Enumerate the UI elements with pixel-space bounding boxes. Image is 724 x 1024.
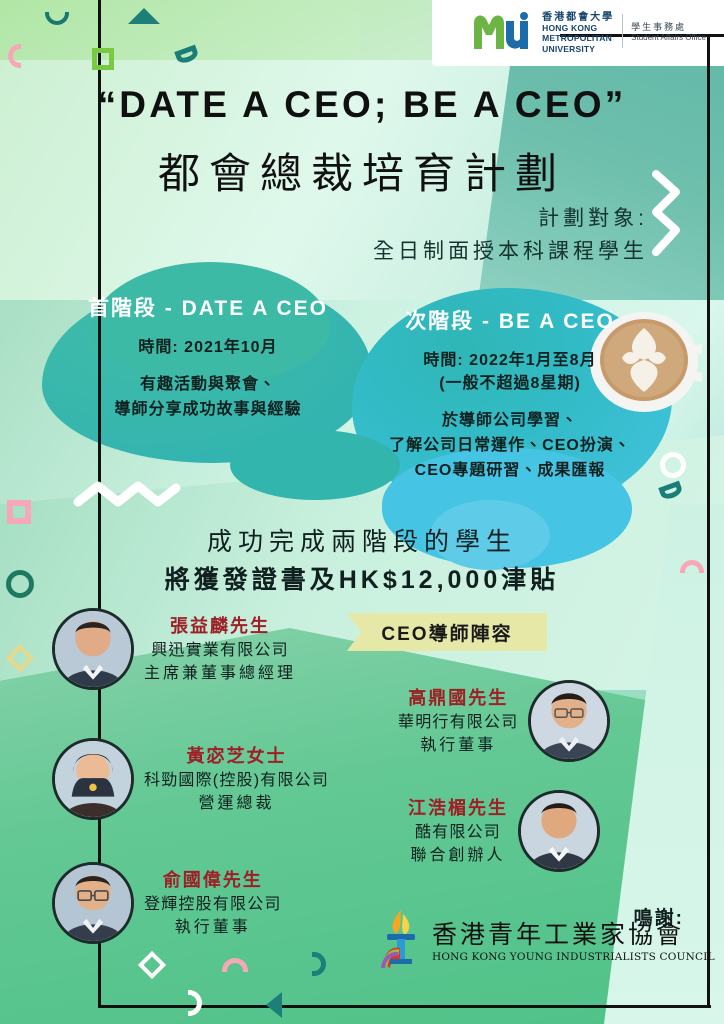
wave-decoration-icon <box>72 478 182 510</box>
page-title-en: “DATE A CEO; BE A CEO” <box>0 84 724 126</box>
torch-icon <box>378 908 424 970</box>
mentor-card: 江浩楣先生 酷有限公司 聯合創辦人 <box>398 790 600 872</box>
sponsor-logo: 香港青年工業家協會 HONG KONG YOUNG INDUSTRIALISTS… <box>378 908 715 970</box>
logo-office-zh: 學生事務處 <box>631 20 706 33</box>
mentor-card: 黃宓芝女士 科勁國際(控股)有限公司 營運總裁 <box>52 738 339 820</box>
logo-office-en: Student Affairs Office <box>631 33 706 42</box>
mu-monogram-icon <box>472 11 534 51</box>
avatar <box>528 680 610 762</box>
square-outline-icon <box>92 48 114 70</box>
mentor-card: 張益麟先生 興迅實業有限公司 主席兼董事總經理 <box>52 608 306 690</box>
phase-one-desc-1: 有趣活動與聚會、 <box>48 373 368 398</box>
mentor-org: 登輝控股有限公司 <box>144 893 282 916</box>
avatar <box>52 738 134 820</box>
triangle-icon <box>128 8 160 24</box>
phase-one-desc-2: 導師分享成功故事與經驗 <box>48 398 368 423</box>
page-title-zh: 都會總裁培育計劃 <box>0 140 724 201</box>
phase-two-time-note: (一般不超過8星期) <box>360 372 660 395</box>
logo-university-en-3: UNIVERSITY <box>542 44 614 54</box>
mentor-name: 高鼎國先生 <box>398 685 518 711</box>
avatar <box>52 608 134 690</box>
reward-block: 成功完成兩階段的學生 將獲發證書及HK$12,000津貼 <box>0 524 724 599</box>
triangle-left-icon <box>266 992 282 1018</box>
mentor-org: 酷有限公司 <box>408 821 508 844</box>
poster-canvas: 香港都會大學 HONG KONG METROPOLITAN UNIVERSITY… <box>0 0 724 1024</box>
mentor-org: 科勁國際(控股)有限公司 <box>144 769 329 792</box>
mentor-role: 主席兼董事總經理 <box>144 662 296 685</box>
square-outline-pink-icon <box>7 500 31 524</box>
avatar <box>518 790 600 872</box>
phase-two-heading: 次階段 - BE A CEO <box>360 305 660 335</box>
logo-university-en-2: METROPOLITAN <box>542 33 614 43</box>
logo-university-en-1: HONG KONG <box>542 23 614 33</box>
mentor-name: 張益麟先生 <box>144 613 296 639</box>
mentor-name: 俞國偉先生 <box>144 867 282 893</box>
mentor-role: 執行董事 <box>144 916 282 939</box>
mentor-card: 高鼎國先生 華明行有限公司 執行董事 <box>388 680 610 762</box>
phase-two-desc-3: CEO專題研習、成果匯報 <box>360 459 660 484</box>
mentor-org: 興迅實業有限公司 <box>144 639 296 662</box>
mentor-org: 華明行有限公司 <box>398 711 518 734</box>
sponsor-name-zh: 香港青年工業家協會 <box>432 915 715 951</box>
circle-outline-white-icon <box>660 452 686 478</box>
audience-value: 全日制面授本科課程學生 <box>373 236 648 269</box>
sponsor-name-en: HONG KONG YOUNG INDUSTRIALISTS COUNCIL <box>432 951 715 963</box>
mentor-role: 執行董事 <box>398 734 518 757</box>
mentor-role: 聯合創辦人 <box>408 844 508 867</box>
mentor-name: 江浩楣先生 <box>408 795 508 821</box>
mentors-banner-label: CEO導師陣容 <box>381 619 512 646</box>
phase-two-block: 次階段 - BE A CEO 時間: 2022年1月至8月 (一般不超過8星期)… <box>360 305 660 484</box>
phase-two-time: 時間: 2022年1月至8月 <box>360 349 660 372</box>
phase-two-desc-1: 於導師公司學習、 <box>360 409 660 434</box>
phase-one-heading: 首階段 - DATE A CEO <box>48 292 368 322</box>
mentor-card: 俞國偉先生 登輝控股有限公司 執行董事 <box>52 862 292 944</box>
phase-two-desc-2: 了解公司日常運作、CEO扮演、 <box>360 434 660 459</box>
logo-university-zh: 香港都會大學 <box>542 8 614 23</box>
logo-divider <box>622 14 623 48</box>
mentors-banner: CEO導師陣容 <box>347 613 547 651</box>
reward-line-2: 將獲發證書及HK$12,000津貼 <box>0 562 724 600</box>
mentor-name: 黃宓芝女士 <box>144 743 329 769</box>
university-logo: 香港都會大學 HONG KONG METROPOLITAN UNIVERSITY… <box>472 8 706 54</box>
avatar <box>52 862 134 944</box>
audience-label: 計劃對象: <box>373 203 648 236</box>
mentor-role: 營運總裁 <box>144 792 329 815</box>
phase-one-block: 首階段 - DATE A CEO 時間: 2021年10月 有趣活動與聚會、 導… <box>48 292 368 423</box>
reward-line-1: 成功完成兩階段的學生 <box>0 524 724 562</box>
phase-one-time: 時間: 2021年10月 <box>48 336 368 359</box>
target-audience: 計劃對象: 全日制面授本科課程學生 <box>373 203 648 268</box>
